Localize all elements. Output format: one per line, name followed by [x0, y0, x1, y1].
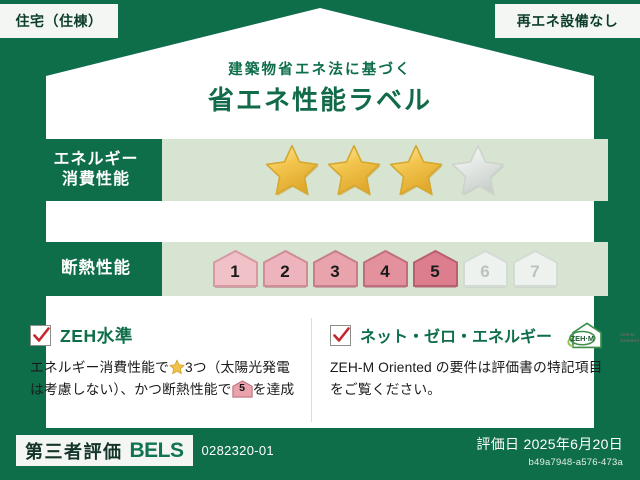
- insulation-badge-value: 3: [330, 262, 339, 289]
- zeh-standard-header: ZEH水準: [30, 322, 302, 348]
- bels-badge: 第三者評価 BELS: [16, 435, 193, 466]
- label-title: 省エネ性能ラベル: [0, 80, 640, 117]
- inline-badge-value: 5: [232, 380, 253, 397]
- label-subtitle: 建築物省エネ法に基づく: [0, 58, 640, 79]
- evaluation-date: 評価日 2025年6月20日: [476, 434, 623, 454]
- insulation-badge-filled: 4: [362, 249, 409, 289]
- insulation-badge-filled: 5: [412, 249, 459, 289]
- svg-text:ZEH·M: ZEH·M: [571, 334, 594, 343]
- energy-label-line2: 消費性能: [62, 170, 130, 190]
- inline-insulation-badge: 5: [232, 380, 253, 398]
- inline-star-icon: [169, 359, 185, 375]
- building-type-tag: 住宅（住棟）: [0, 4, 118, 38]
- zeh-standard-description: エネルギー消費性能で3つ（太陽光発電は考慮しない）、かつ断熱性能で5を達成: [30, 357, 302, 402]
- energy-label-line1: エネルギー: [53, 150, 138, 170]
- net-zero-energy-section: ネット・ゼロ・エネルギー ZEH·M ZEH-M Oriented ZEH-M …: [330, 322, 608, 402]
- star-filled-icon: [387, 142, 445, 198]
- insulation-performance-row: 断熱性能 1234567: [30, 242, 608, 296]
- zeh-m-logo-icon: ZEH·M: [565, 321, 609, 349]
- energy-performance-row: エネルギー 消費性能: [30, 139, 608, 201]
- star-filled-icon: [325, 142, 383, 198]
- energy-performance-label: 住宅（住棟） 再エネ設備なし 建築物省エネ法に基づく 省エネ性能ラベル エネルギ…: [0, 0, 640, 480]
- star-empty-icon: [449, 142, 507, 198]
- star-rating: [162, 139, 608, 201]
- renewable-energy-tag: 再エネ設備なし: [495, 4, 640, 38]
- insulation-badge-value: 6: [480, 262, 489, 289]
- zeh-m-caption-line2: Oriented: [620, 338, 639, 344]
- star-filled-icon: [263, 142, 321, 198]
- insulation-badge-value: 1: [230, 262, 239, 289]
- net-zero-energy-title: ネット・ゼロ・エネルギー: [360, 323, 552, 347]
- insulation-badge-value: 2: [280, 262, 289, 289]
- zeh-standard-title: ZEH水準: [60, 323, 133, 348]
- net-zero-energy-header: ネット・ゼロ・エネルギー ZEH·M ZEH-M Oriented: [330, 322, 608, 348]
- insulation-badge-empty: 6: [462, 249, 509, 289]
- insulation-badge-filled: 1: [212, 249, 259, 289]
- bels-logo-text: BELS: [130, 439, 184, 463]
- zeh-standard-checkbox[interactable]: [30, 325, 51, 346]
- insulation-badge-value: 5: [430, 262, 439, 289]
- bels-number: 0282320-01: [202, 443, 274, 458]
- net-zero-energy-checkbox[interactable]: [330, 325, 351, 346]
- zeh-desc-post: を達成: [253, 382, 295, 397]
- energy-performance-label-box: エネルギー 消費性能: [30, 139, 162, 201]
- insulation-badge-filled: 2: [262, 249, 309, 289]
- zeh-desc-pre: エネルギー消費性能で: [30, 360, 169, 375]
- evaluation-id: b49a7948-a576-473a: [476, 457, 623, 468]
- net-zero-energy-description: ZEH-M Oriented の要件は評価書の特記項目をご覧ください。: [330, 357, 608, 402]
- insulation-label: 断熱性能: [61, 258, 131, 279]
- insulation-scale: 1234567: [162, 242, 608, 296]
- zeh-m-logo-caption: ZEH-M Oriented: [620, 332, 639, 343]
- zeh-standard-section: ZEH水準 エネルギー消費性能で3つ（太陽光発電は考慮しない）、かつ断熱性能で5…: [30, 322, 302, 402]
- insulation-performance-label-box: 断熱性能: [30, 242, 162, 296]
- section-divider: [311, 318, 312, 422]
- insulation-badge-value: 4: [380, 262, 389, 289]
- insulation-badge-value: 7: [530, 262, 539, 289]
- insulation-badge-empty: 7: [512, 249, 559, 289]
- insulation-badge-filled: 3: [312, 249, 359, 289]
- footer-left: 第三者評価 BELS 0282320-01: [16, 435, 274, 466]
- bels-japanese-label: 第三者評価: [25, 438, 123, 464]
- footer-right: 評価日 2025年6月20日 b49a7948-a576-473a: [476, 434, 623, 468]
